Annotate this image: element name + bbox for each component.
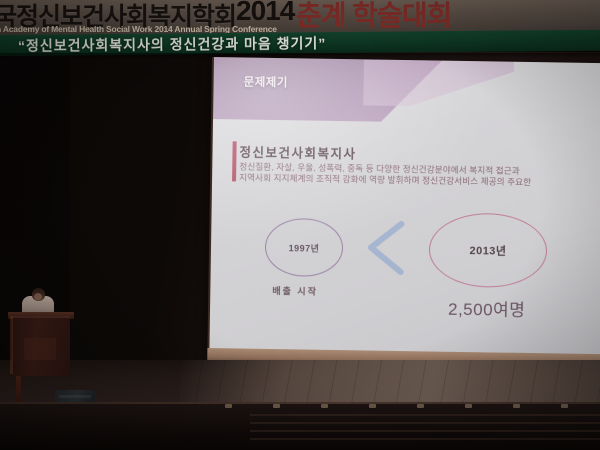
presenter-face: [34, 293, 42, 300]
slide-accent-bar: [232, 141, 236, 181]
stage-lip-lights: [225, 404, 600, 409]
slide-header-ribbon-accent: [363, 59, 514, 107]
presentation-slide: 문제제기 정신보건사회복지사 정신질환, 자살, 우울, 성폭력, 중독 등 다…: [209, 57, 600, 355]
banner-highlight-korean: 춘계 학술대회: [296, 0, 451, 34]
projection-screen: 문제제기 정신보건사회복지사 정신질환, 자살, 우울, 성폭력, 중독 등 다…: [209, 57, 600, 355]
stage-apron-slats: [250, 414, 600, 446]
slide-caption-right: 2,500여명: [448, 295, 526, 321]
slide-circle-2013: 2013년: [428, 212, 547, 288]
photo-scene: 국정신보건사회복지학회 2014 춘계 학술대회 n Academy of Me…: [0, 0, 600, 450]
slide-heading: 정신보건사회복지사: [239, 141, 356, 162]
slide-caption-left: 배출 시작: [272, 284, 318, 298]
slide-header-label: 문제제기: [243, 74, 288, 91]
less-than-chevron-icon: [363, 217, 408, 278]
banner-year: 2014: [236, 0, 294, 27]
projection-screen-frame: 문제제기 정신보건사회복지사 정신질환, 자살, 우울, 성폭력, 중독 등 다…: [207, 57, 600, 363]
stage-floor-planks: [180, 360, 600, 408]
podium-front-panel: [24, 338, 56, 360]
podium-edge-highlight: [10, 316, 13, 374]
slide-circle-1997: 1997년: [265, 218, 344, 277]
